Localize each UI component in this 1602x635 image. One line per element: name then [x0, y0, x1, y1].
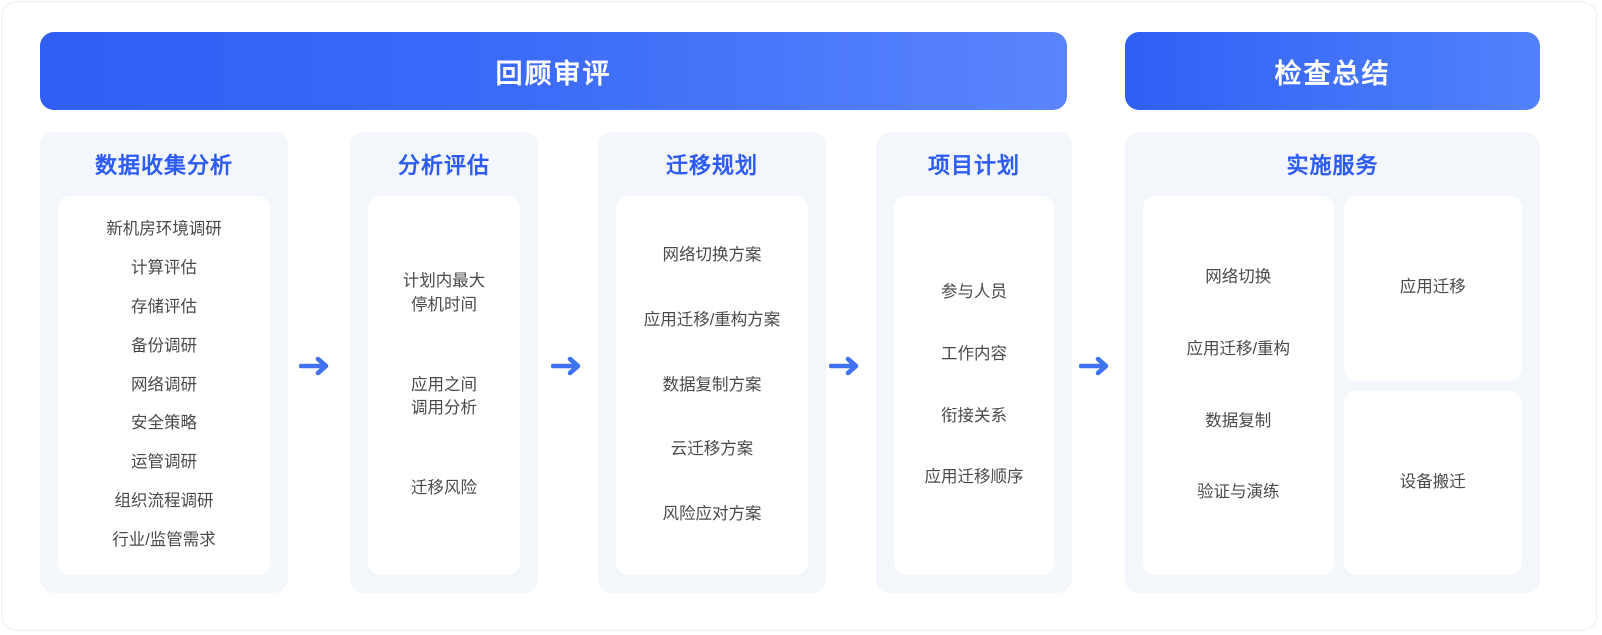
stage-body: 网络切换 应用迁移/重构 数据复制 验证与演练 应用迁移 设备搬迁 — [1143, 196, 1522, 575]
stage-data-collection[interactable]: 数据收集分析 新机房环境调研 计算评估 存储评估 备份调研 网络调研 安全策略 … — [40, 132, 288, 593]
list-item: 工作内容 — [941, 343, 1007, 367]
list-item: 衔接关系 — [941, 405, 1007, 429]
stage-card: 网络切换方案 应用迁移/重构方案 数据复制方案 云迁移方案 风险应对方案 — [616, 196, 808, 575]
stage-title: 分析评估 — [350, 132, 538, 177]
stage-implementation-service[interactable]: 实施服务 网络切换 应用迁移/重构 数据复制 验证与演练 应用迁移 设备搬迁 — [1125, 132, 1540, 593]
banner-summary: 检查总结 — [1125, 32, 1540, 110]
list-item: 备份调研 — [131, 335, 197, 359]
list-item: 应用迁移 — [1400, 276, 1466, 300]
list-item: 存储评估 — [131, 296, 197, 320]
stage-body: 计划内最大停机时间 应用之间调用分析 迁移风险 — [368, 196, 520, 575]
list-item: 网络切换 — [1205, 266, 1271, 290]
list-item: 网络切换方案 — [663, 244, 762, 268]
list-item: 应用迁移/重构 — [1186, 338, 1290, 362]
list-item: 参与人员 — [941, 281, 1007, 305]
list-item: 应用迁移顺序 — [925, 466, 1024, 490]
list-item: 行业/监管需求 — [112, 529, 216, 553]
stage-title: 实施服务 — [1125, 132, 1540, 177]
arrow-right-icon — [1079, 354, 1113, 378]
list-item: 计划内最大停机时间 — [403, 270, 486, 318]
stage-project-plan[interactable]: 项目计划 参与人员 工作内容 衔接关系 应用迁移顺序 — [876, 132, 1072, 593]
list-item: 运管调研 — [131, 451, 197, 475]
stage-card: 网络切换 应用迁移/重构 数据复制 验证与演练 — [1143, 196, 1334, 575]
stage-body: 参与人员 工作内容 衔接关系 应用迁移顺序 — [894, 196, 1054, 575]
list-item: 数据复制 — [1205, 410, 1271, 434]
stage-card: 参与人员 工作内容 衔接关系 应用迁移顺序 — [894, 196, 1054, 575]
stage-card: 设备搬迁 — [1344, 391, 1523, 576]
stage-title: 迁移规划 — [598, 132, 826, 177]
list-item: 组织流程调研 — [115, 490, 214, 514]
arrow-right-icon — [829, 354, 863, 378]
list-item: 验证与演练 — [1197, 481, 1280, 505]
arrow-right-icon — [299, 354, 333, 378]
stage-card: 应用迁移 — [1344, 196, 1523, 381]
list-item: 云迁移方案 — [671, 438, 754, 462]
list-item: 计算评估 — [131, 257, 197, 281]
list-item: 应用之间调用分析 — [411, 374, 477, 422]
migration-process-diagram: 回顾审评 检查总结 数据收集分析 新机房环境调研 计算评估 存储评估 备份调研 … — [0, 0, 1602, 635]
banner-summary-label: 检查总结 — [1275, 52, 1391, 91]
stage-title: 项目计划 — [876, 132, 1072, 177]
list-item: 安全策略 — [131, 412, 197, 436]
list-item: 数据复制方案 — [663, 374, 762, 398]
list-item: 应用迁移/重构方案 — [644, 309, 781, 333]
list-item: 网络调研 — [131, 374, 197, 398]
banner-review-label: 回顾审评 — [496, 52, 612, 91]
stage-analysis-assessment[interactable]: 分析评估 计划内最大停机时间 应用之间调用分析 迁移风险 — [350, 132, 538, 593]
list-item: 新机房环境调研 — [106, 218, 222, 242]
stage-migration-planning[interactable]: 迁移规划 网络切换方案 应用迁移/重构方案 数据复制方案 云迁移方案 风险应对方… — [598, 132, 826, 593]
list-item: 迁移风险 — [411, 477, 477, 501]
stage-row: 数据收集分析 新机房环境调研 计算评估 存储评估 备份调研 网络调研 安全策略 … — [40, 132, 1540, 593]
stage-title: 数据收集分析 — [40, 132, 288, 177]
stage-card: 新机房环境调研 计算评估 存储评估 备份调研 网络调研 安全策略 运管调研 组织… — [58, 196, 270, 575]
stage-body: 网络切换方案 应用迁移/重构方案 数据复制方案 云迁移方案 风险应对方案 — [616, 196, 808, 575]
list-item: 风险应对方案 — [663, 503, 762, 527]
arrow-right-icon — [551, 354, 585, 378]
list-item: 设备搬迁 — [1400, 471, 1466, 495]
stage-body: 新机房环境调研 计算评估 存储评估 备份调研 网络调研 安全策略 运管调研 组织… — [58, 196, 270, 575]
stage-card-group: 应用迁移 设备搬迁 — [1344, 196, 1523, 575]
banner-review: 回顾审评 — [40, 32, 1067, 110]
stage-card: 计划内最大停机时间 应用之间调用分析 迁移风险 — [368, 196, 520, 575]
